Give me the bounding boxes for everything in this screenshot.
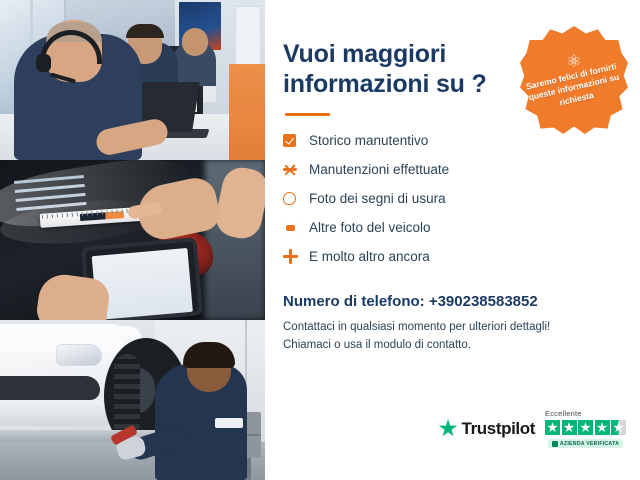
promo-banner: Vuoi maggiori informazioni su ? ⚛ Saremo… bbox=[0, 0, 640, 480]
magnifier-icon bbox=[283, 192, 309, 205]
trustpilot-logo: Trustpilot bbox=[439, 419, 535, 439]
person-mid-hair-decor bbox=[126, 24, 164, 38]
contact-line-1: Contattaci in qualsiasi momento per ulte… bbox=[283, 319, 622, 337]
list-item-label: Manutenzioni effettuate bbox=[309, 163, 449, 177]
info-badge: ⚛ Saremo felici di fornirti queste infor… bbox=[520, 26, 628, 134]
title-divider bbox=[285, 113, 330, 116]
mechanic-badge-decor bbox=[215, 418, 243, 428]
page-title: Vuoi maggiori informazioni su ? bbox=[283, 40, 523, 99]
tools-cross-icon bbox=[283, 163, 309, 177]
content-panel: Vuoi maggiori informazioni su ? ⚛ Saremo… bbox=[265, 0, 640, 480]
contact-description: Contattaci in qualsiasi momento per ulte… bbox=[283, 319, 622, 355]
workshop-photo bbox=[0, 320, 265, 480]
list-item-label: E molto altro ancora bbox=[309, 250, 430, 264]
list-item-label: Altre foto del veicolo bbox=[309, 221, 431, 235]
person-back-head-decor bbox=[182, 28, 208, 56]
star-icon bbox=[545, 420, 560, 435]
trustpilot-brand-label: Trustpilot bbox=[462, 419, 535, 439]
rating-label: Eccellente bbox=[545, 409, 582, 418]
inspection-photo bbox=[0, 160, 265, 320]
feature-list: Storico manutentivo Manutenzioni effettu… bbox=[283, 126, 622, 271]
star-rating bbox=[545, 420, 626, 435]
plus-icon bbox=[283, 249, 309, 264]
list-item: E molto altro ancora bbox=[283, 242, 622, 271]
contact-line-2: Chiamaci o usa il modulo di contatto. bbox=[283, 337, 622, 355]
trustpilot-rating: Eccellente AZIENDA VERIFICATA bbox=[545, 409, 626, 448]
star-icon bbox=[562, 420, 577, 435]
list-item: Storico manutentivo bbox=[283, 126, 622, 155]
camera-frame-icon bbox=[283, 221, 309, 234]
checkbox-icon bbox=[283, 134, 309, 147]
list-item: Altre foto del veicolo bbox=[283, 213, 622, 242]
autohero-logo-decor bbox=[80, 211, 124, 221]
headlight-decor bbox=[56, 344, 102, 366]
call-center-photo bbox=[0, 0, 265, 160]
list-item: Foto dei segni di usura bbox=[283, 184, 622, 213]
operator-earcup-decor bbox=[36, 54, 51, 72]
photo-column bbox=[0, 0, 265, 480]
list-item: Manutenzioni effettuate bbox=[283, 155, 622, 184]
verified-badge: AZIENDA VERIFICATA bbox=[548, 439, 623, 448]
verified-label: AZIENDA VERIFICATA bbox=[560, 441, 619, 447]
verified-check-icon bbox=[552, 441, 558, 447]
phone-number: Numero di telefono: +390238583852 bbox=[283, 293, 622, 310]
bumper-decor bbox=[0, 400, 110, 426]
poster-secondary-decor bbox=[235, 6, 261, 68]
list-item-label: Storico manutentivo bbox=[309, 134, 428, 148]
trustpilot-widget[interactable]: Trustpilot Eccellente AZIENDA VERIFICATA bbox=[439, 409, 626, 448]
orange-panel-decor bbox=[229, 64, 265, 160]
star-icon-half bbox=[611, 420, 626, 435]
mechanic-hair-decor bbox=[183, 342, 235, 368]
trustpilot-star-icon bbox=[439, 419, 458, 438]
star-icon bbox=[578, 420, 593, 435]
list-item-label: Foto dei segni di usura bbox=[309, 192, 446, 206]
headset-icon: ⚛ bbox=[566, 53, 581, 70]
grille-decor bbox=[0, 376, 100, 400]
star-icon bbox=[595, 420, 610, 435]
